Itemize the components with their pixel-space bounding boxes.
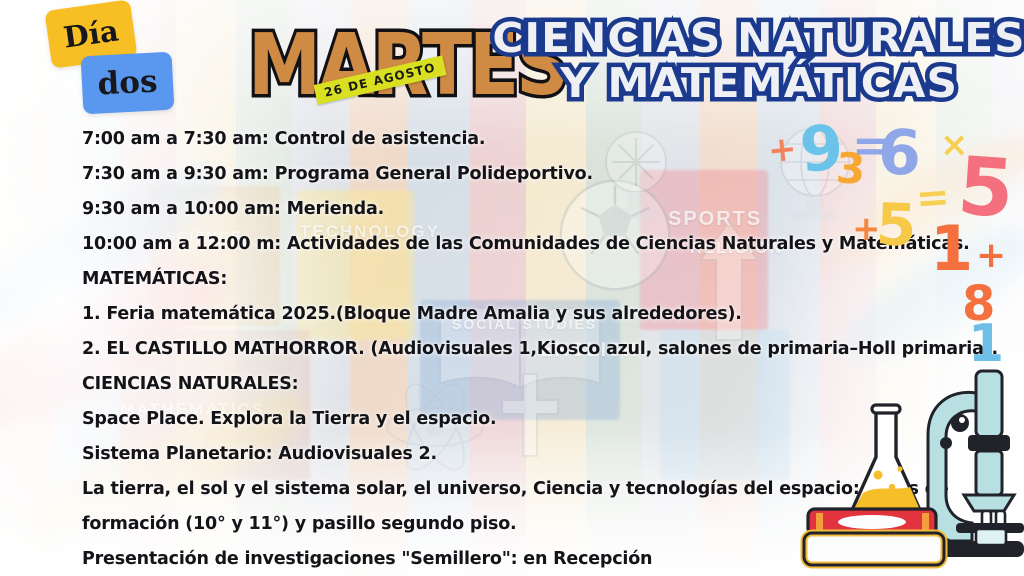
schedule-line: La tierra, el sol y el sistema solar, el…: [82, 472, 872, 507]
science-clipart: [800, 365, 1024, 570]
math-doodle: +: [976, 238, 1006, 274]
schedule-list: 7:00 am a 7:30 am: Control de asistencia…: [82, 122, 872, 576]
weekday-title: MARTES: [248, 22, 503, 107]
page-title: CIENCIAS NATURALES Y MATEMÁTICAS: [492, 16, 1024, 106]
math-doodle: 1: [968, 318, 1004, 370]
schedule-line: 2. EL CASTILLO MATHORROR. (Audiovisuales…: [82, 332, 872, 367]
books-icon: [804, 509, 944, 565]
schedule-line: 10:00 am a 12:00 m: Actividades de las C…: [82, 227, 872, 262]
schedule-heading-matematicas: MATEMÁTICAS:: [82, 262, 872, 297]
math-doodle: 1: [930, 218, 973, 280]
day-badge-dos: dos: [81, 52, 175, 115]
schedule-line: formación (10° y 11°) y pasillo segundo …: [82, 507, 872, 542]
schedule-line: Presentación de investigaciones "Semille…: [82, 542, 872, 576]
math-doodle: +: [766, 132, 798, 169]
schedule-line: Sistema Planetario: Audiovisuales 2.: [82, 437, 872, 472]
weekday-block: MARTES 26 DE AGOSTO: [248, 22, 498, 114]
schedule-line: 7:30 am a 9:30 am: Programa General Poli…: [82, 157, 872, 192]
title-line-1: CIENCIAS NATURALES: [492, 16, 1024, 61]
event-poster: Technology Sports Religion English Socia…: [0, 0, 1024, 576]
microscope-icon: [928, 371, 1024, 557]
schedule-line: 1. Feria matemática 2025.(Bloque Madre A…: [82, 297, 872, 332]
schedule-line: Space Place. Explora la Tierra y el espa…: [82, 402, 872, 437]
title-line-2: Y MATEMÁTICAS: [492, 61, 1024, 106]
schedule-line: 7:00 am a 7:30 am: Control de asistencia…: [82, 122, 872, 157]
schedule-line: 9:30 am a 10:00 am: Merienda.: [82, 192, 872, 227]
math-doodle: 5: [875, 195, 917, 254]
schedule-heading-ciencias: CIENCIAS NATURALES:: [82, 367, 872, 402]
